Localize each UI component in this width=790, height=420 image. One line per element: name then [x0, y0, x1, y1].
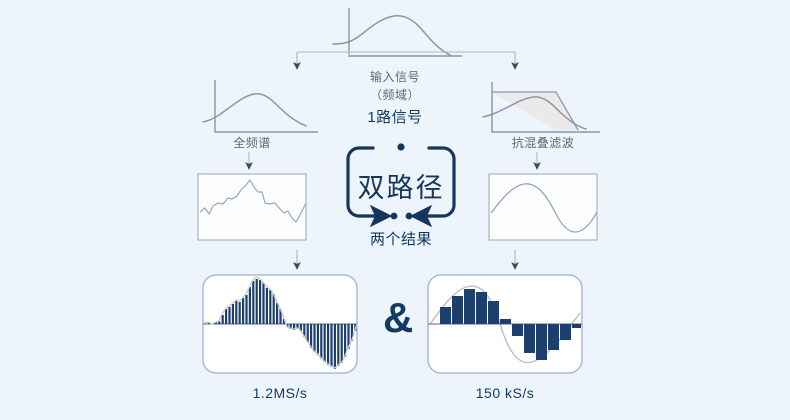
input-signal-label-line1: 输入信号: [0, 68, 790, 85]
chart-noisy-waveform: [198, 174, 306, 240]
chart-clean-sine: [489, 174, 597, 240]
low-rate-label: 150 kS/s: [428, 385, 582, 401]
panel-low-rate-result: [428, 275, 582, 373]
full-spectrum-label: 全频谱: [198, 134, 306, 151]
diagram-graphics: [0, 0, 790, 420]
antialias-filter-label: 抗混叠滤波: [478, 134, 608, 151]
connector-split: [297, 52, 515, 66]
high-rate-label: 1.2MS/s: [203, 385, 357, 401]
chart-input-signal: [333, 8, 462, 56]
badge-caption: 两个结果: [348, 228, 454, 249]
badge-title: 双路径: [348, 166, 454, 205]
panel-high-rate-result: [203, 275, 357, 373]
ampersand-separator: &: [383, 297, 413, 339]
diagram-canvas: 输入信号 （频域） 1路信号 全频谱 抗混叠滤波 双路径 两个结果 & 1.2M…: [0, 0, 790, 420]
channel-count-label: 1路信号: [0, 106, 790, 127]
input-signal-label-line2: （频域）: [0, 86, 790, 103]
